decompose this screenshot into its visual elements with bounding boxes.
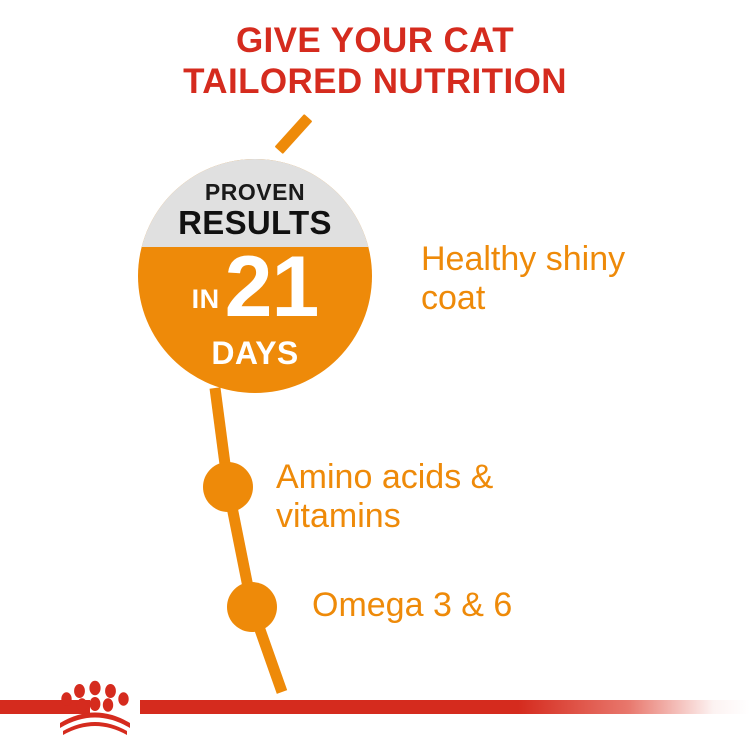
benefit-item-3: Omega 3 & 6 [312, 586, 512, 625]
headline-line-1: GIVE YOUR CAT [0, 20, 750, 61]
badge-proven-label: PROVEN [138, 181, 372, 204]
badge-content: PROVEN RESULTS IN 21 DAYS [138, 159, 372, 393]
benefit-3-line-1: Omega 3 & 6 [312, 586, 512, 625]
benefit-2-line-1: Amino acids & [276, 458, 493, 497]
bullet-dot-1 [203, 462, 253, 512]
royal-canin-crown-icon [55, 679, 135, 737]
benefit-1-line-1: Healthy shiny [421, 240, 625, 279]
proven-results-badge: PROVEN RESULTS IN 21 DAYS [138, 159, 372, 393]
diagonal-dash-icon [275, 114, 313, 154]
badge-days-label: DAYS [138, 337, 372, 369]
bullet-dot-2 [227, 582, 277, 632]
promo-graphic: GIVE YOUR CAT TAILORED NUTRITION PROVEN … [0, 0, 750, 750]
footer-bar-right-segment [140, 700, 750, 714]
benefit-item-2: Amino acids & vitamins [276, 458, 493, 537]
badge-number: 21 [225, 251, 319, 325]
connector-path [0, 0, 750, 750]
benefit-1-line-2: coat [421, 279, 625, 318]
benefit-2-line-2: vitamins [276, 497, 493, 536]
badge-in-number-row: IN 21 [138, 251, 372, 325]
badge-in-label: IN [192, 286, 225, 325]
badge-results-label: RESULTS [138, 206, 372, 239]
headline-line-2: TAILORED NUTRITION [0, 61, 750, 102]
benefit-item-1: Healthy shiny coat [421, 240, 625, 319]
page-title: GIVE YOUR CAT TAILORED NUTRITION [0, 20, 750, 103]
